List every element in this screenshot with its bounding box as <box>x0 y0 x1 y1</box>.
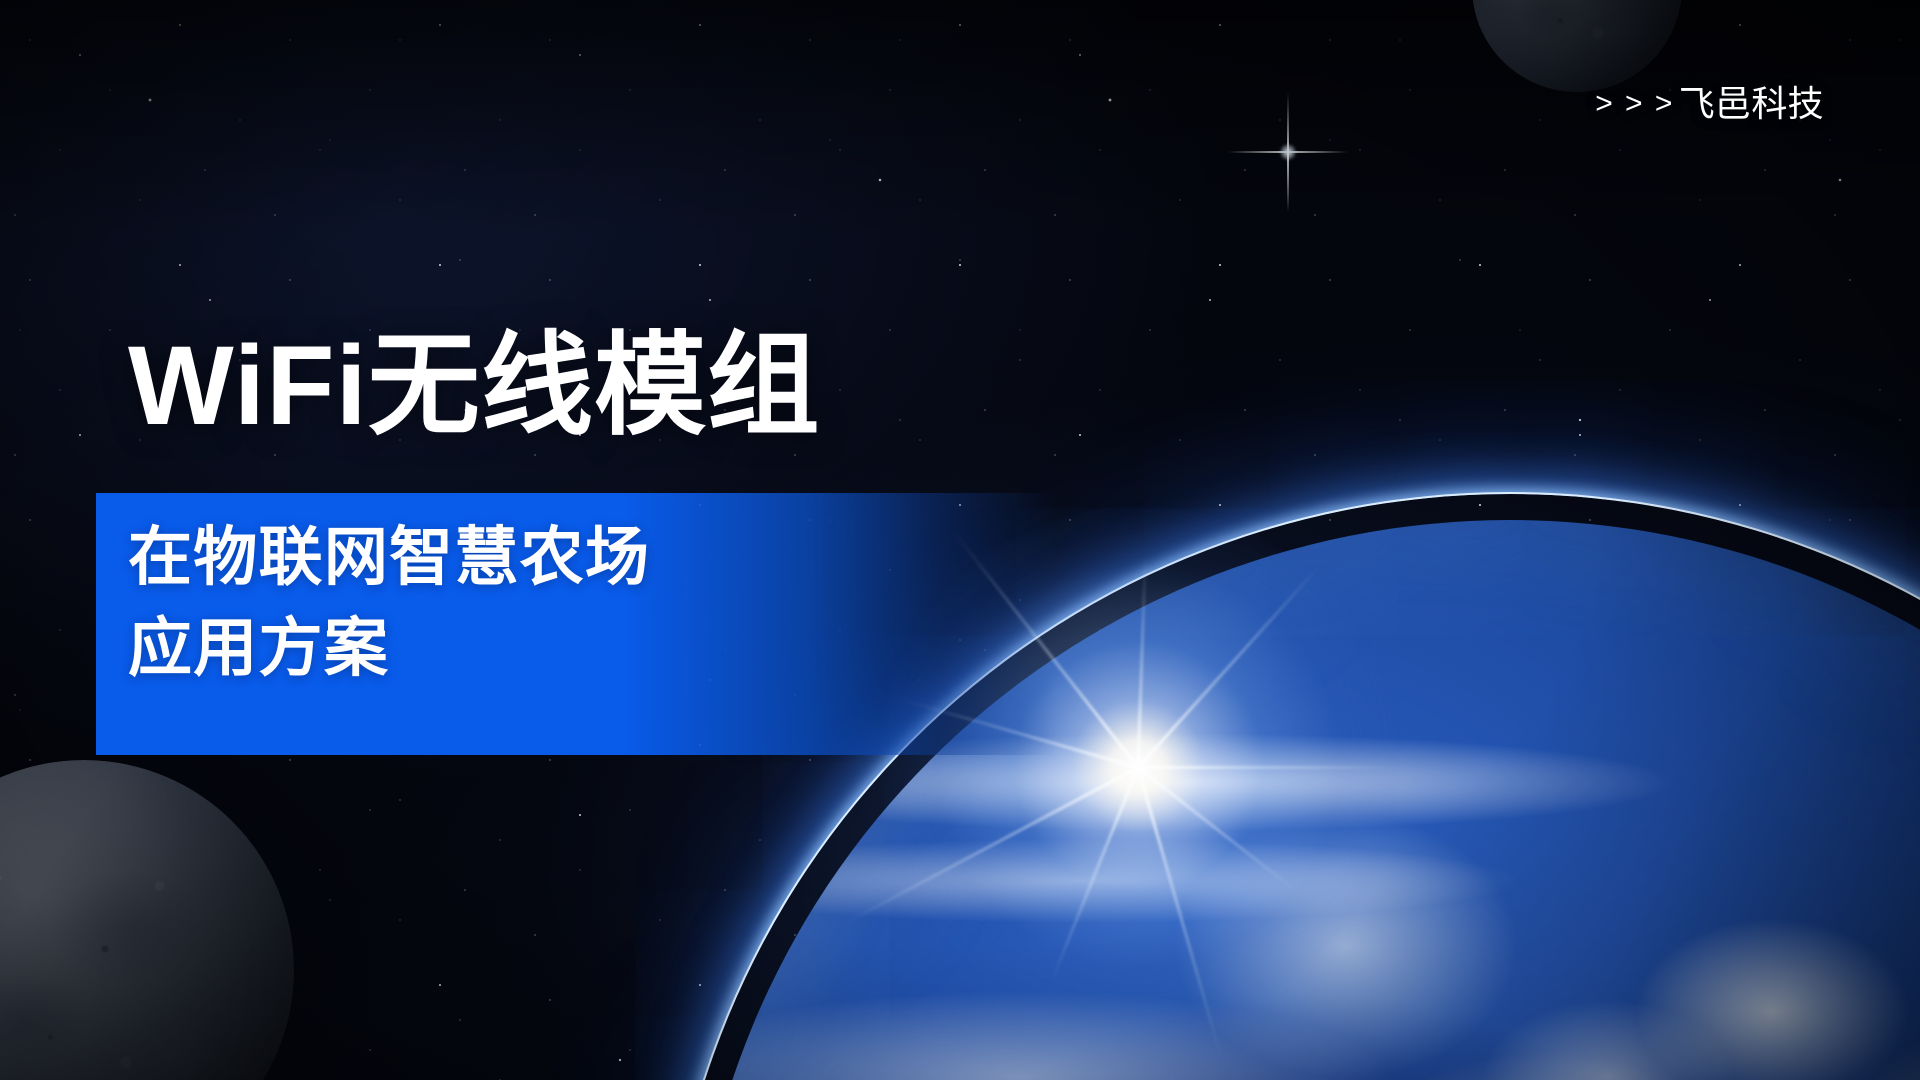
subtitle-text: 在物联网智慧农场 应用方案 <box>128 512 650 694</box>
subtitle-line-2: 应用方案 <box>128 603 650 694</box>
sparkle-core <box>1279 143 1297 161</box>
brand-logo[interactable]: > > > 飞邑科技 <box>1595 86 1824 122</box>
poster-canvas: > > > 飞邑科技 WiFi无线模组 在物联网智慧农场 应用方案 <box>0 0 1920 1080</box>
subtitle-line-1: 在物联网智慧农场 <box>128 512 650 603</box>
page-title: WiFi无线模组 <box>128 330 820 442</box>
chevron-right-icon: > <box>1595 89 1613 119</box>
chevron-right-icon: > <box>1655 89 1673 119</box>
sun-ray <box>1138 766 1398 769</box>
brand-name: 飞邑科技 <box>1679 86 1824 122</box>
chevron-right-icon: > <box>1625 89 1643 119</box>
